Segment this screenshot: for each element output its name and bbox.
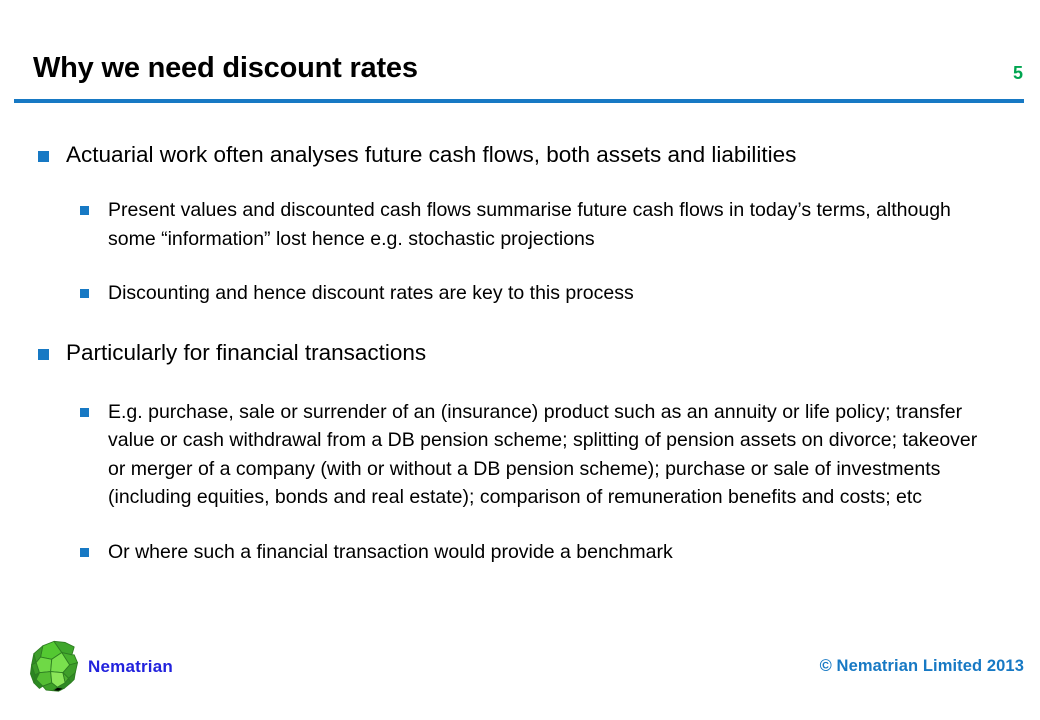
bullet-item-level1: Particularly for financial transactions	[0, 338, 1040, 368]
page-title: Why we need discount rates	[33, 51, 418, 85]
bullet-item-level2: Present values and discounted cash flows…	[0, 196, 1040, 253]
bullet-text: E.g. purchase, sale or surrender of an (…	[108, 398, 978, 512]
title-divider	[14, 99, 1024, 103]
square-bullet-icon	[38, 349, 49, 360]
square-bullet-icon	[80, 206, 89, 215]
slide-body: Actuarial work often analyses future cas…	[0, 140, 1040, 566]
bullet-text: Particularly for financial transactions	[66, 338, 1000, 368]
nematrian-polyhedron-logo-icon	[26, 638, 82, 694]
slide-canvas: Why we need discount rates 5 Actuarial w…	[0, 0, 1040, 720]
bullet-text: Or where such a financial transaction wo…	[108, 538, 978, 567]
spacer	[0, 308, 1040, 338]
bullet-item-level1: Actuarial work often analyses future cas…	[0, 140, 1040, 170]
bullet-item-level2: Or where such a financial transaction wo…	[0, 538, 1040, 567]
square-bullet-icon	[38, 151, 49, 162]
spacer	[0, 512, 1040, 538]
bullet-text: Discounting and hence discount rates are…	[108, 279, 978, 308]
spacer	[0, 253, 1040, 279]
square-bullet-icon	[80, 408, 89, 417]
spacer	[0, 170, 1040, 196]
copyright-notice: © Nematrian Limited 2013	[820, 657, 1024, 676]
bullet-text: Actuarial work often analyses future cas…	[66, 140, 1000, 170]
bullet-text: Present values and discounted cash flows…	[108, 196, 978, 253]
spacer	[0, 368, 1040, 398]
bullet-item-level2: E.g. purchase, sale or surrender of an (…	[0, 398, 1040, 512]
square-bullet-icon	[80, 289, 89, 298]
page-number: 5	[1013, 63, 1023, 84]
bullet-item-level2: Discounting and hence discount rates are…	[0, 279, 1040, 308]
square-bullet-icon	[80, 548, 89, 557]
brand-name: Nematrian	[88, 657, 173, 677]
